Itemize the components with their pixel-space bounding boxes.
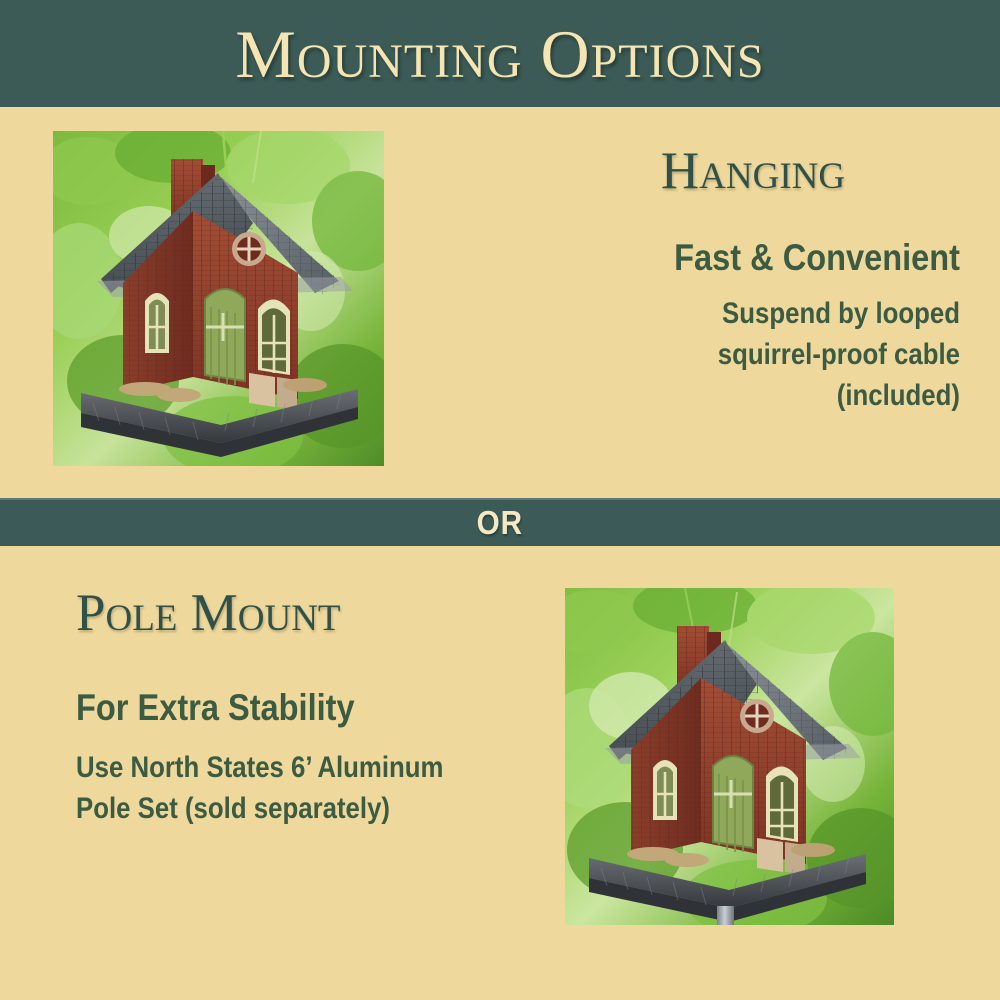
- section-hanging-subtitle: Fast & Convenient: [608, 237, 960, 279]
- section-hanging-body-line-2: squirrel-proof cable: [616, 334, 960, 375]
- header-bar: Mounting Options: [0, 0, 1000, 107]
- or-divider-bar: OR: [0, 498, 1000, 546]
- infographic-page: Mounting Options: [0, 0, 1000, 1000]
- birdhouse-pole-mount-illustration: [565, 588, 894, 925]
- section-hanging-text: Hanging Fast & Convenient Suspend by loo…: [560, 143, 960, 416]
- section-pole-mount-subtitle: For Extra Stability: [76, 687, 454, 729]
- section-pole-mount-title: Pole Mount: [76, 585, 506, 641]
- section-hanging-body-line-3: (included): [616, 375, 960, 416]
- or-divider-label: OR: [477, 506, 523, 539]
- section-hanging-body: Suspend by looped squirrel-proof cable (…: [616, 293, 960, 416]
- section-hanging-title: Hanging: [560, 143, 960, 199]
- page-title: Mounting Options: [235, 20, 764, 88]
- section-pole-mount-text: Pole Mount For Extra Stability Use North…: [76, 585, 506, 829]
- section-pole-mount-body-line-1: Use North States 6’ Aluminum: [76, 747, 446, 788]
- section-pole-mount-body: Use North States 6’ Aluminum Pole Set (s…: [76, 747, 446, 829]
- section-hanging-body-line-1: Suspend by looped: [616, 293, 960, 334]
- birdhouse-hanging-photo: [53, 131, 384, 466]
- section-pole-mount-body-line-2: Pole Set (sold separately): [76, 788, 446, 829]
- birdhouse-pole-mount-photo: [565, 588, 894, 925]
- birdhouse-hanging-illustration: [53, 131, 384, 466]
